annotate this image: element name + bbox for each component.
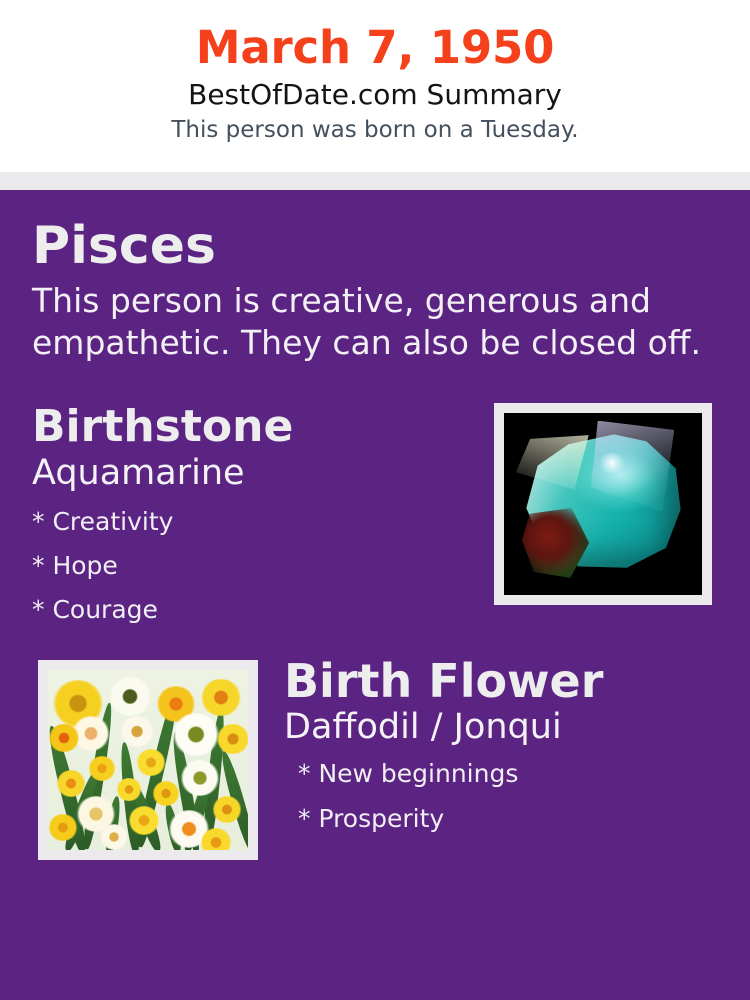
- zodiac-sign-title: Pisces: [32, 218, 718, 274]
- daffodil-bloom-icon: [212, 796, 242, 823]
- list-item: * Creativity: [32, 500, 472, 544]
- birth-flower-text-column: Birth Flower Daffodil / Jonqui * New beg…: [284, 656, 718, 841]
- daffodil-bloom-icon: [200, 679, 242, 717]
- zodiac-description: This person is creative, generous and em…: [32, 280, 712, 363]
- birth-flower-section: Birth Flower Daffodil / Jonqui * New beg…: [32, 656, 718, 871]
- daffodil-bloom-icon: [88, 756, 116, 781]
- birthstone-section: Birthstone Aquamarine * Creativity * Hop…: [32, 403, 718, 631]
- list-item: * Courage: [32, 588, 472, 632]
- card-header: March 7, 1950 BestOfDate.com Summary Thi…: [0, 0, 750, 172]
- card-body: Pisces This person is creative, generous…: [0, 190, 750, 1000]
- daffodil-bloom-icon: [108, 677, 152, 717]
- birth-flower-image-frame: [38, 660, 258, 860]
- daffodil-bloom-icon: [136, 749, 166, 776]
- birthstone-name: Aquamarine: [32, 454, 472, 494]
- birth-flower-trait-list: * New beginnings * Prosperity: [284, 752, 718, 841]
- birthstone-title: Birthstone: [32, 403, 472, 451]
- daffodil-bloom-icon: [48, 724, 80, 753]
- daffodil-bloom-icon: [216, 724, 248, 755]
- daffodil-bloom-icon: [180, 760, 220, 796]
- list-item: * Hope: [32, 544, 472, 588]
- zodiac-section: Pisces This person is creative, generous…: [32, 190, 718, 363]
- header-divider: [0, 172, 750, 190]
- summary-card: March 7, 1950 BestOfDate.com Summary Thi…: [0, 0, 750, 1000]
- daffodil-bloom-icon: [128, 806, 160, 835]
- daffodil-bloom-icon: [152, 781, 180, 806]
- daffodil-field-photo: [48, 670, 248, 850]
- list-item: * New beginnings: [298, 752, 718, 797]
- birth-flower-title: Birth Flower: [284, 656, 718, 707]
- day-of-week-note: This person was born on a Tuesday.: [0, 113, 750, 146]
- birthstone-trait-list: * Creativity * Hope * Courage: [32, 500, 472, 632]
- birth-flower-name: Daffodil / Jonqui: [284, 708, 718, 748]
- aquamarine-crystal-photo: [504, 413, 702, 595]
- list-item: * Prosperity: [298, 797, 718, 842]
- site-name-subtitle: BestOfDate.com Summary: [0, 72, 750, 114]
- daffodil-bloom-icon: [100, 824, 128, 849]
- daffodil-bloom-icon: [200, 828, 232, 850]
- birthstone-image-frame: [494, 403, 712, 605]
- daffodil-bloom-icon: [172, 713, 220, 756]
- daffodil-bloom-icon: [116, 778, 142, 801]
- birthstone-text-column: Birthstone Aquamarine * Creativity * Hop…: [32, 403, 472, 631]
- daffodil-bloom-icon: [120, 716, 154, 747]
- birth-date-title: March 7, 1950: [0, 24, 750, 72]
- daffodil-bloom-icon: [48, 814, 78, 841]
